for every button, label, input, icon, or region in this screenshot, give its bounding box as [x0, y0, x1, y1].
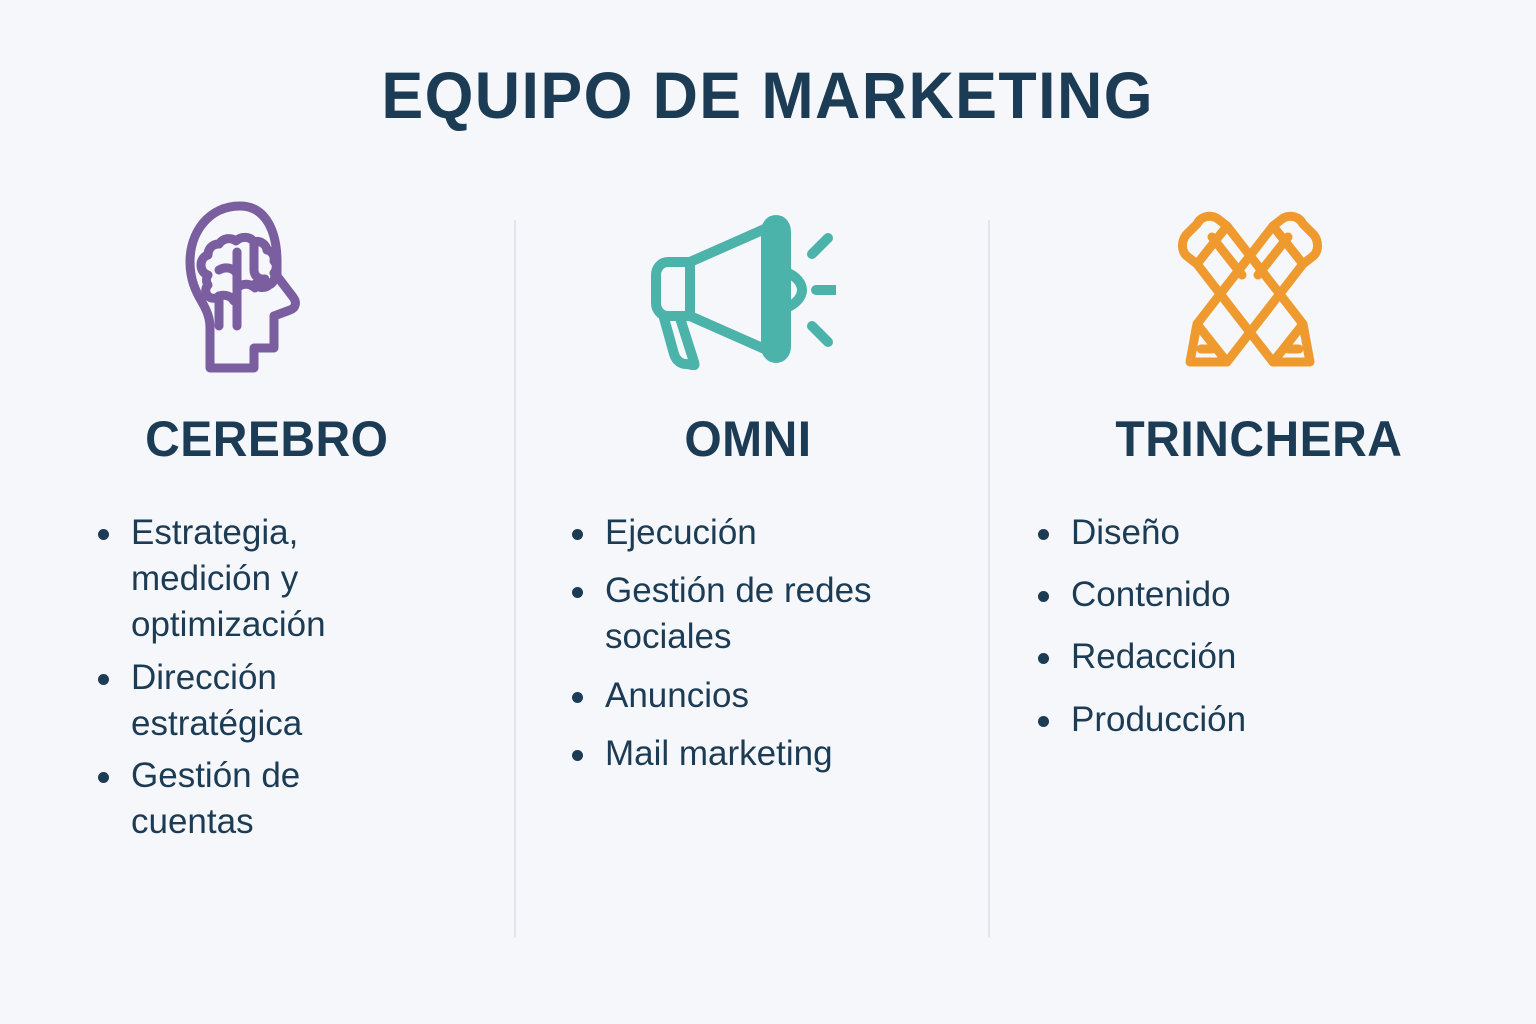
list-item-label: Redacción [1071, 634, 1466, 680]
list-item-label: Estrategia, medición y optimización [131, 510, 384, 649]
list-item: Estrategia, medición y optimización [98, 510, 384, 649]
icon-area-trinchera [1008, 190, 1506, 390]
list-item: Dirección estratégica [98, 655, 384, 747]
icon-area-cerebro [40, 190, 484, 390]
list-item-label: Producción [1071, 697, 1466, 743]
column-heading-cerebro: CEREBRO [49, 390, 475, 464]
bullet-dot-icon [1038, 591, 1049, 602]
list-item: Mail marketing [572, 731, 906, 777]
list-item-label: Gestión de cuentas [131, 753, 384, 845]
title-area: EQUIPO DE MARKETING [0, 0, 1536, 190]
bullet-dot-icon [572, 529, 583, 540]
list-item: Anuncios [572, 673, 906, 719]
list-item-label: Diseño [1071, 510, 1466, 556]
bullet-dot-icon [98, 529, 109, 540]
list-item: Contenido [1038, 572, 1466, 618]
list-item-label: Dirección estratégica [131, 655, 384, 747]
crossed-pencils-icon [1175, 206, 1325, 374]
bullet-dot-icon [98, 772, 109, 783]
column-trinchera: TRINCHERA Diseño Contenido Redacción Pro… [988, 190, 1536, 960]
bullet-dot-icon [1038, 529, 1049, 540]
bullet-list-trinchera: Diseño Contenido Redacción Producción [1008, 464, 1506, 759]
list-item: Redacción [1038, 634, 1466, 680]
column-omni: OMNI Ejecución Gestión de redes sociales… [514, 190, 988, 960]
bullet-dot-icon [572, 750, 583, 761]
column-heading-omni: OMNI [546, 390, 949, 464]
bullet-list-cerebro: Estrategia, medición y optimización Dire… [40, 464, 484, 851]
page-title: EQUIPO DE MARKETING [382, 62, 1155, 128]
bullet-dot-icon [1038, 716, 1049, 727]
bullet-dot-icon [98, 674, 109, 685]
list-item: Gestión de cuentas [98, 753, 384, 845]
bullet-list-omni: Ejecución Gestión de redes sociales Anun… [538, 464, 958, 789]
bullet-dot-icon [1038, 653, 1049, 664]
list-item-label: Contenido [1071, 572, 1466, 618]
column-heading-trinchera: TRINCHERA [1018, 390, 1496, 464]
megaphone-icon [650, 210, 836, 370]
list-item-label: Anuncios [605, 673, 906, 719]
list-item: Producción [1038, 697, 1466, 743]
list-item-label: Mail marketing [605, 731, 906, 777]
head-brain-icon [178, 200, 328, 380]
list-item: Gestión de redes sociales [572, 568, 906, 660]
list-item: Ejecución [572, 510, 906, 556]
bullet-dot-icon [572, 692, 583, 703]
icon-area-omni [538, 190, 958, 390]
marketing-team-infographic: EQUIPO DE MARKETING [0, 0, 1536, 1024]
column-cerebro: CEREBRO Estrategia, medición y optimizac… [0, 190, 514, 960]
list-item-label: Gestión de redes sociales [605, 568, 906, 660]
list-item-label: Ejecución [605, 510, 906, 556]
list-item: Diseño [1038, 510, 1466, 556]
bullet-dot-icon [572, 587, 583, 598]
columns-container: CEREBRO Estrategia, medición y optimizac… [0, 190, 1536, 1024]
